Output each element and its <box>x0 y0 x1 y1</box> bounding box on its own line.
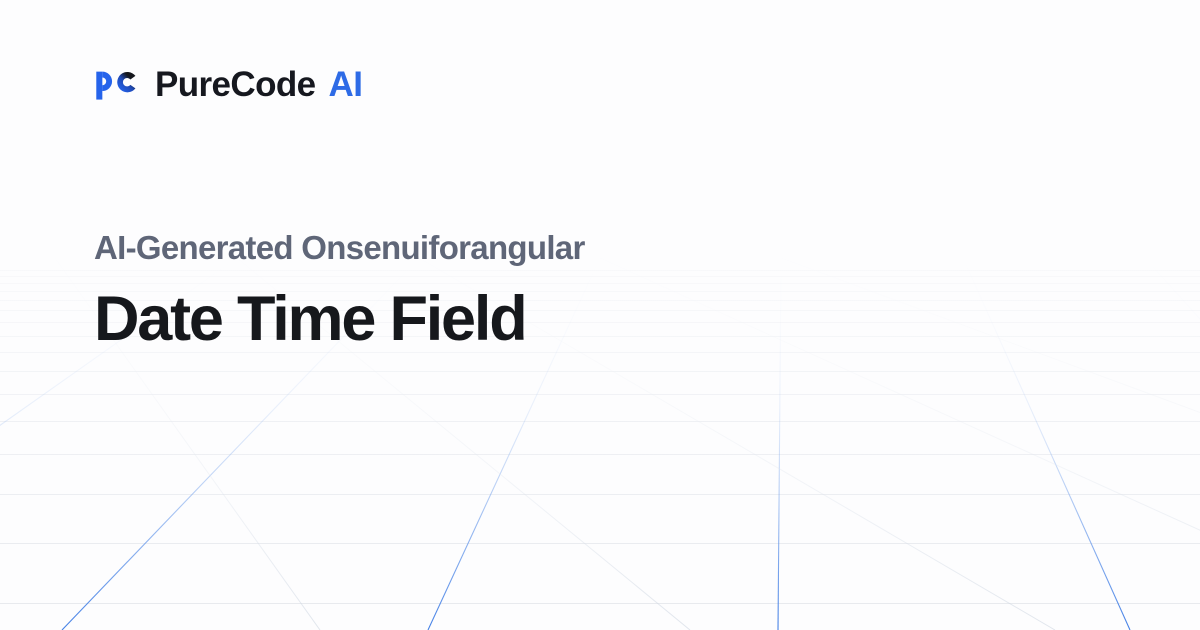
brand-wordmark: PureCode AI <box>155 67 362 102</box>
hero-eyebrow: AI-Generated Onsenuiforangular <box>94 228 585 268</box>
hero-title: Date Time Field <box>94 286 585 352</box>
brand-name-primary: PureCode <box>155 67 316 102</box>
brand-name-accent: AI <box>329 67 363 102</box>
hero-text-block: AI-Generated Onsenuiforangular Date Time… <box>94 228 585 352</box>
social-card-canvas: PureCode AI AI-Generated Onsenuiforangul… <box>0 0 1200 630</box>
brand-logo[interactable]: PureCode AI <box>94 62 362 106</box>
purecode-pc-monogram-icon <box>94 62 138 106</box>
